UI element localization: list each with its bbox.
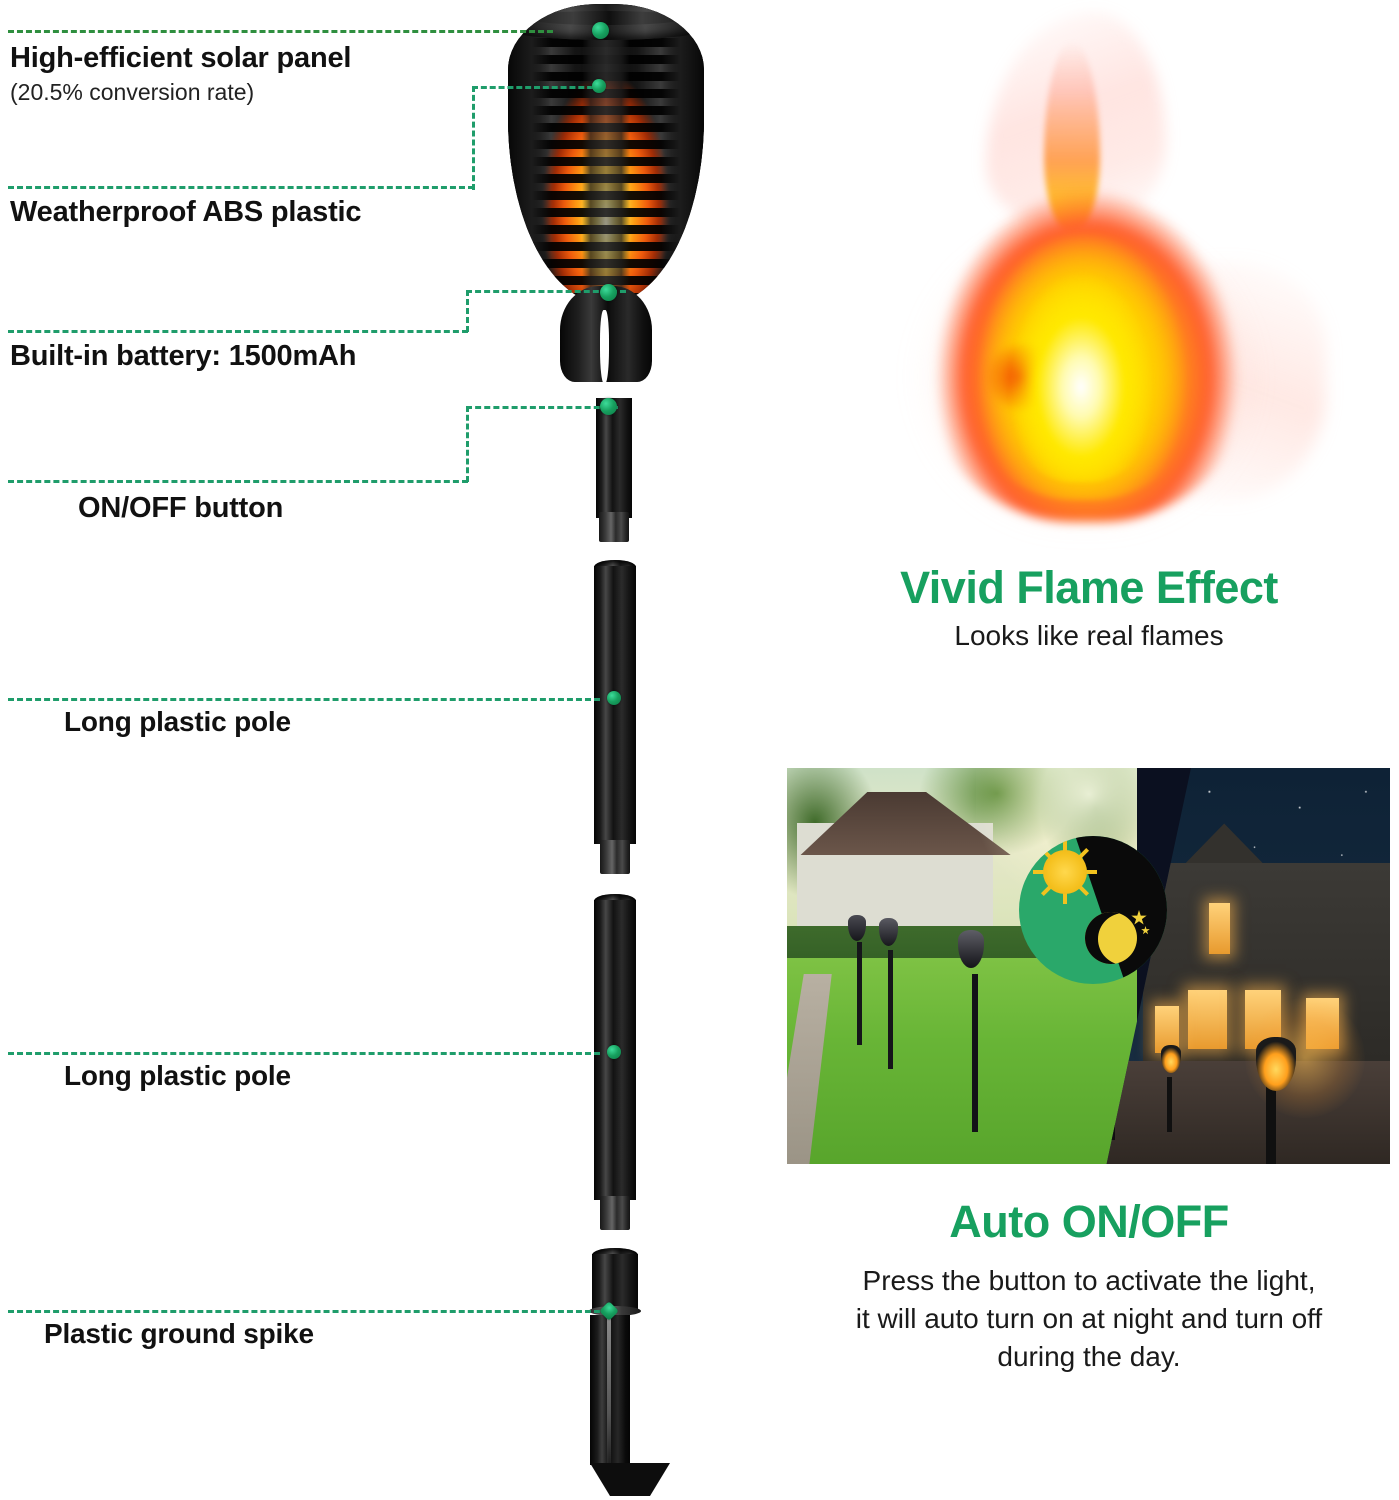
callout-dot-battery <box>600 284 617 301</box>
callout-dot-abs <box>592 79 606 93</box>
callout-line-abs-b <box>472 86 475 190</box>
callout-text-abs-plastic: Weatherproof ABS plastic <box>10 196 361 228</box>
day-lawn <box>787 958 1137 1164</box>
spike-collar <box>592 1254 638 1310</box>
night-torch-pole-main <box>1266 1085 1276 1164</box>
feature-body-line-3: during the day. <box>786 1338 1392 1376</box>
day-torch-pole-1 <box>857 942 862 1045</box>
crescent-moon <box>1085 912 1137 964</box>
callout-dot-solar-panel <box>592 22 609 39</box>
feature-body-line-2: it will auto turn on at night and turn o… <box>786 1300 1392 1338</box>
torch-head-flame-lantern <box>508 4 704 304</box>
callout-label-onoff: ON/OFF button <box>78 492 283 525</box>
callout-line-solar-panel <box>8 30 553 33</box>
lantern-center-band <box>582 16 629 304</box>
ground-spike-tip <box>590 1463 670 1496</box>
infographic-canvas: High-efficient solar panel (20.5% conver… <box>0 0 1399 1500</box>
callout-line-onoff-a <box>466 406 618 409</box>
stem-connector-1 <box>599 512 629 542</box>
day-torch-pole-3 <box>972 974 978 1132</box>
callout-text-pole-lower: Long plastic pole <box>64 1060 291 1091</box>
callout-label-pole-upper: Long plastic pole <box>64 706 291 738</box>
callout-line-ground-spike <box>8 1310 600 1313</box>
callout-label-pole-lower: Long plastic pole <box>64 1060 291 1092</box>
pole-section-1 <box>594 566 636 844</box>
callout-text-ground-spike: Plastic ground spike <box>44 1318 314 1349</box>
callout-line-battery-c <box>8 330 468 333</box>
callout-line-abs-a <box>472 86 602 89</box>
callout-text-onoff: ON/OFF button <box>78 492 283 524</box>
feature-heading-auto-onoff: Auto ON/OFF <box>786 1196 1392 1248</box>
feature-heading-vivid-flame: Vivid Flame Effect <box>786 562 1392 614</box>
feature-body-auto-onoff: Press the button to activate the light, … <box>786 1262 1392 1376</box>
callout-line-pole-lower <box>8 1052 600 1055</box>
callout-subtext-solar-panel: (20.5% conversion rate) <box>10 79 351 106</box>
lantern-left-shadow <box>508 4 551 304</box>
stem-connector-2 <box>600 840 630 874</box>
day-torch-pole-2 <box>888 950 893 1069</box>
callout-text-pole-upper: Long plastic pole <box>64 706 291 737</box>
sun-disc <box>1043 850 1087 894</box>
callout-line-abs-c <box>8 186 474 189</box>
lantern-right-shadow <box>661 4 704 304</box>
day-torch-head-1 <box>848 915 866 941</box>
callout-text-battery: Built-in battery: 1500mAh <box>10 340 356 372</box>
callout-label-battery: Built-in battery: 1500mAh <box>10 340 356 373</box>
callout-line-onoff-c <box>8 480 468 483</box>
feature-subtext-vivid-flame: Looks like real flames <box>786 620 1392 652</box>
callout-dot-pole-upper <box>607 691 621 705</box>
day-night-badge <box>1019 836 1167 984</box>
stem-upper <box>596 398 632 518</box>
torch-fork-gap <box>600 310 609 384</box>
callout-label-abs-plastic: Weatherproof ABS plastic <box>10 196 361 229</box>
callout-line-onoff-b <box>466 406 469 482</box>
callout-label-ground-spike: Plastic ground spike <box>44 1318 314 1350</box>
night-torch-pole-2 <box>1167 1077 1172 1132</box>
vivid-flame-image <box>836 12 1346 542</box>
night-window-2 <box>1188 990 1227 1049</box>
feature-body-line-1: Press the button to activate the light, <box>786 1262 1392 1300</box>
callout-dot-pole-lower <box>607 1045 621 1059</box>
callout-dot-onoff <box>600 398 617 415</box>
stem-connector-3 <box>600 1196 630 1230</box>
callout-text-solar-panel: High-efficient solar panel <box>10 42 351 74</box>
ground-spike-ridge <box>607 1318 611 1478</box>
callout-line-pole-upper <box>8 698 600 701</box>
callout-label-solar-panel: High-efficient solar panel (20.5% conver… <box>10 42 351 106</box>
callout-line-battery-b <box>466 290 469 332</box>
night-window-1 <box>1209 903 1230 954</box>
